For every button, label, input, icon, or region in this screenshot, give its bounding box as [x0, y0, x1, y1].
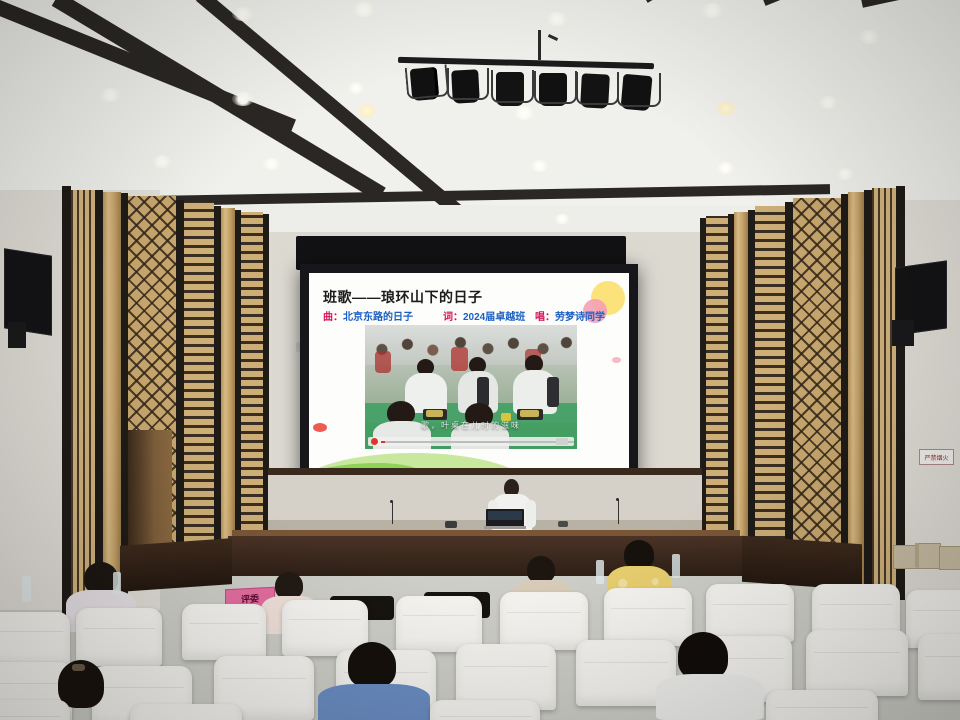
- water-bottle: [596, 560, 604, 584]
- audience-chair[interactable]: [76, 608, 162, 666]
- wood-slat-panel: [241, 212, 263, 560]
- ceiling-downlight: [554, 214, 570, 224]
- audience-body: [656, 674, 764, 720]
- credit-label: 词：: [443, 312, 463, 323]
- presentation-slide: 班歌——琅环山下的日子 曲：北京东路的日子 词：2024届卓越班 唱：劳梦诗同学: [309, 273, 629, 483]
- audience-chair[interactable]: [500, 592, 588, 650]
- stage-light-yoke: [576, 72, 619, 105]
- microphone-head: [616, 498, 619, 501]
- podium-microphone: [392, 502, 393, 524]
- safety-sign-label: 严禁烟火: [924, 453, 948, 462]
- box-tape: [915, 543, 919, 567]
- audience-head: [527, 556, 555, 583]
- cardboard-box: [917, 543, 941, 569]
- audience-chair[interactable]: [806, 630, 908, 696]
- stage-desk-item: [445, 521, 457, 528]
- lattice-panel: [793, 198, 841, 580]
- truss-cable: [538, 30, 541, 60]
- audience-head: [348, 642, 396, 688]
- video-progress-track[interactable]: [381, 441, 574, 443]
- ceiling-downlight: [352, 2, 376, 17]
- podium-microphone: [618, 500, 619, 524]
- water-bottle: [22, 576, 31, 602]
- credit-value: 劳梦诗同学: [555, 312, 605, 323]
- ceiling-downlight: [347, 82, 365, 94]
- ceiling-downlight: [716, 162, 735, 174]
- video-chair: [451, 347, 468, 371]
- ceiling-downlight: [836, 168, 854, 180]
- wood-column-frame: [748, 210, 755, 564]
- audience-chair[interactable]: [130, 704, 242, 720]
- auditorium-photo: 严禁烟火 班歌——琅环山下的日子 曲：北京东路的日子 词：2024届卓越班 唱：…: [0, 0, 960, 720]
- video-caption: 歌，叶桌在儿时的滋味: [365, 420, 577, 431]
- slide-credit-lyricist: 词：2024届卓越班: [443, 308, 525, 323]
- video-progress-fill: [381, 441, 385, 443]
- ceiling-downlight: [357, 104, 377, 118]
- ceiling-downlight: [232, 92, 254, 106]
- stage-light-yoke: [534, 71, 577, 104]
- audience-hair-tie: [72, 664, 85, 671]
- wood-column-frame: [214, 206, 221, 568]
- ceiling-downlight: [715, 101, 737, 116]
- slide-credit-composer: 曲：北京东路的日子: [323, 308, 413, 323]
- audience-chair[interactable]: [182, 604, 266, 660]
- audience-chair[interactable]: [706, 584, 794, 642]
- wood-column-frame: [62, 186, 71, 626]
- credit-label: 曲：: [323, 312, 343, 323]
- speaker-mount-right: [892, 320, 914, 346]
- wood-panel: [103, 192, 121, 617]
- projection-screen: 班歌——琅环山下的日子 曲：北京东路的日子 词：2024届卓越班 唱：劳梦诗同学: [300, 264, 638, 492]
- stage-wall-trim: [268, 468, 702, 475]
- stage-light-yoke: [491, 70, 534, 103]
- microphone-head: [390, 500, 393, 503]
- stage-front-panel-right: [742, 536, 862, 590]
- ceiling-downlight: [818, 96, 838, 109]
- video-player-bar[interactable]: [368, 437, 574, 446]
- dot-decoration: [313, 423, 327, 432]
- video-crowd: [365, 329, 577, 363]
- speaker-mount-left: [8, 322, 26, 348]
- laptop-screen-glow: [488, 511, 522, 520]
- wood-column-frame: [785, 202, 793, 570]
- presenter-arm: [526, 500, 536, 528]
- dot-decoration: [612, 357, 621, 363]
- slide-credit-singer: 唱：劳梦诗同学: [535, 308, 605, 323]
- ceiling-downlight: [513, 106, 535, 120]
- audience-chair[interactable]: [0, 612, 70, 668]
- laptop-base: [484, 526, 526, 529]
- audience-chair[interactable]: [604, 588, 692, 646]
- wood-panel: [848, 192, 864, 588]
- wood-panel: [221, 208, 235, 566]
- play-button-icon[interactable]: [371, 438, 378, 445]
- water-bottle: [113, 572, 121, 594]
- video-food: [426, 410, 443, 417]
- wood-column-frame: [176, 200, 184, 575]
- wood-column-frame: [841, 194, 848, 586]
- audience-head: [678, 632, 728, 680]
- stage-light-yoke: [405, 64, 450, 100]
- stage-light-yoke: [447, 68, 489, 100]
- video-student-backpack: [547, 377, 559, 407]
- ceiling-downlight: [700, 3, 724, 18]
- credit-value: 2024届卓越班: [463, 312, 525, 323]
- wood-slat-panel: [706, 216, 728, 560]
- credit-value: 北京东路的日子: [343, 312, 413, 323]
- stage-desk-item: [558, 521, 568, 527]
- wood-column-frame: [95, 190, 103, 620]
- audience-chair[interactable]: [918, 634, 960, 700]
- wood-panel: [734, 212, 748, 562]
- water-bottle: [672, 554, 680, 578]
- stage-front-panel-left: [120, 538, 232, 592]
- wood-column-frame: [896, 186, 905, 600]
- wood-slat-panel: [184, 202, 214, 572]
- safety-sign: 严禁烟火: [919, 449, 954, 465]
- video-thumbnail-preview: [556, 438, 568, 445]
- cardboard-box: [939, 546, 960, 570]
- wood-column-frame: [864, 190, 872, 590]
- ceiling-downlight: [99, 88, 121, 102]
- audience-chair[interactable]: [0, 700, 70, 720]
- wood-slat-panel: [71, 190, 95, 620]
- audience-body: [318, 684, 430, 720]
- ceiling-downlight: [530, 160, 549, 172]
- audience-chair[interactable]: [766, 690, 878, 720]
- stage-front-panel: [228, 536, 744, 576]
- slide-title: 班歌——琅环山下的日子: [323, 287, 483, 307]
- ceiling-downlight: [546, 12, 568, 26]
- wood-slat-panel: [872, 188, 896, 596]
- wood-slat-panel: [755, 206, 785, 566]
- video-chair: [375, 351, 391, 373]
- ceiling-downlight: [262, 158, 281, 170]
- embedded-video[interactable]: 歌，叶桌在儿时的滋味: [365, 325, 577, 449]
- audience-chair[interactable]: [430, 700, 540, 720]
- video-food: [520, 410, 539, 417]
- credit-label: 唱：: [535, 312, 555, 323]
- stage-light-yoke: [617, 73, 661, 107]
- audience-head: [275, 572, 303, 599]
- audience-head: [624, 540, 654, 569]
- ceiling-downlight: [232, 7, 254, 21]
- ceiling-downlight: [858, 30, 880, 44]
- ceiling-downlight: [152, 155, 172, 168]
